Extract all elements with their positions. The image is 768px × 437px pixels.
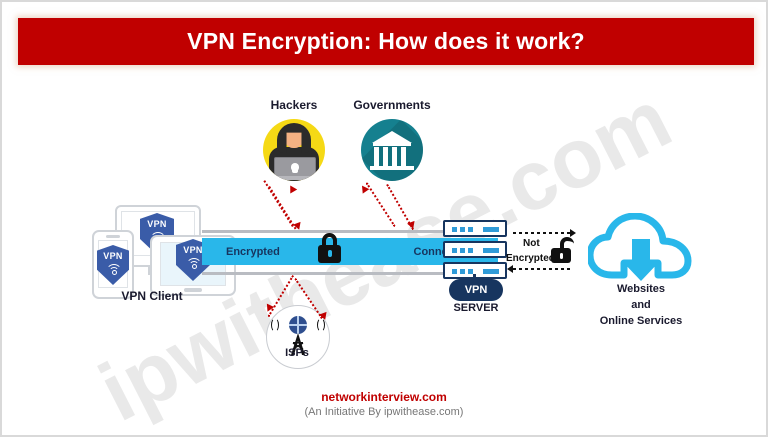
governments-label: Governments [332,98,452,112]
tunnel-left-label: Encrypted [226,246,280,258]
vpn-client-label: VPN Client [92,289,212,303]
cloud-download-icon [588,213,694,283]
not-encrypted-line2: Encrypted [506,253,555,264]
unencrypted-arrow-right [513,232,571,234]
server-caption: SERVER [431,302,521,314]
page-title: VPN Encryption: How does it work? [187,28,585,55]
destination-line2: and [581,299,701,311]
title-banner: VPN Encryption: How does it work? [18,18,754,65]
attack-arrowhead [407,221,417,230]
footer-tagline: (An Initiative By ipwithease.com) [2,406,766,418]
hacker-icon [263,119,325,181]
not-encrypted-line1: Not [523,238,540,249]
isp-label: ISPs [267,347,327,359]
arrowhead-left [507,265,513,273]
server-rack-unit [443,220,507,237]
padlock-closed-icon [318,233,341,263]
unencrypted-arrow-left [513,268,571,270]
padlock-open-icon [551,237,571,263]
destination-line3: Online Services [571,315,711,327]
attack-arrowhead [264,304,274,314]
attack-arrowhead [319,312,329,321]
server-pill-label: VPN [465,284,488,296]
destination-line1: Websites [581,283,701,295]
server-vpn-pill: VPN [449,279,503,301]
diagram-canvas: VPN Encryption: How does it work? ipwith… [0,0,768,437]
footer-site[interactable]: networkinterview.com [2,390,766,404]
attack-arrowhead [287,183,297,193]
server-rack-unit [443,241,507,258]
arrowhead-right [570,229,576,237]
bank-icon [361,119,423,181]
attack-arrow-hackers-down [268,186,296,229]
